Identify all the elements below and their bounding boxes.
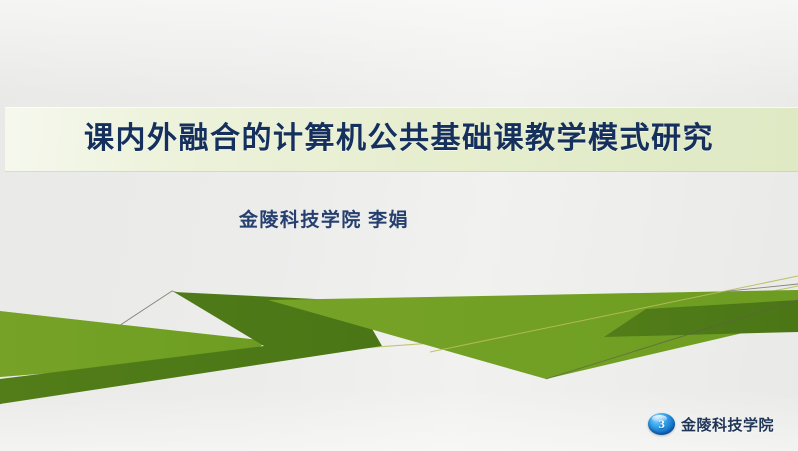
ribbon-hairline-right-dark [546,300,798,379]
logo-glyph: З [648,418,675,430]
presentation-slide: 课内外融合的计算机公共基础课教学模式研究 金陵科技学院 李娟 З 金陵科技学院 [0,0,798,451]
ribbon-hairline-right-rise [430,276,798,352]
ribbon-dark-green-overlap [0,292,382,404]
footer-logo: З 金陵科技学院 [648,413,774,435]
ribbon-light-green-left-wedge [0,311,268,377]
logo-institution-name: 金陵科技学院 [681,414,774,435]
page-title: 课内外融合的计算机公共基础课教学模式研究 [0,112,798,166]
ribbon-hairline-left-peak [0,284,798,404]
ribbon-hairline-olive-lower [0,286,798,392]
jinling-institute-logo-icon: З [648,413,675,435]
ribbon-light-green-main-band [268,290,798,379]
ribbon-dark-green-right-tail [604,300,798,337]
slide-subtitle-author: 金陵科技学院 李娟 [0,206,798,236]
